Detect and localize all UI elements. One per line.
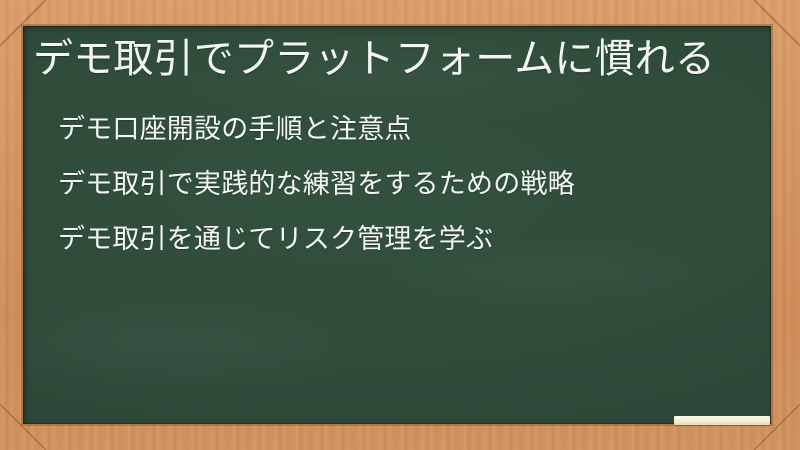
- slide-content: デモ取引でプラットフォームに慣れる デモ口座開設の手順と注意点 デモ取引で実践的…: [23, 26, 771, 424]
- slide-title: デモ取引でプラットフォームに慣れる: [33, 34, 763, 84]
- list-item: デモ取引で実践的な練習をするための戦略: [33, 157, 753, 212]
- bullet-list: デモ口座開設の手順と注意点 デモ取引で実践的な練習をするための戦略 デモ取引を通…: [33, 102, 753, 267]
- list-item: デモ取引を通じてリスク管理を学ぶ: [33, 212, 753, 267]
- chalkboard-slide: デモ取引でプラットフォームに慣れる デモ口座開設の手順と注意点 デモ取引で実践的…: [0, 0, 800, 450]
- list-item: デモ口座開設の手順と注意点: [33, 102, 753, 157]
- chalk-stick: [674, 416, 770, 425]
- chalkboard-surface: デモ取引でプラットフォームに慣れる デモ口座開設の手順と注意点 デモ取引で実践的…: [23, 26, 771, 424]
